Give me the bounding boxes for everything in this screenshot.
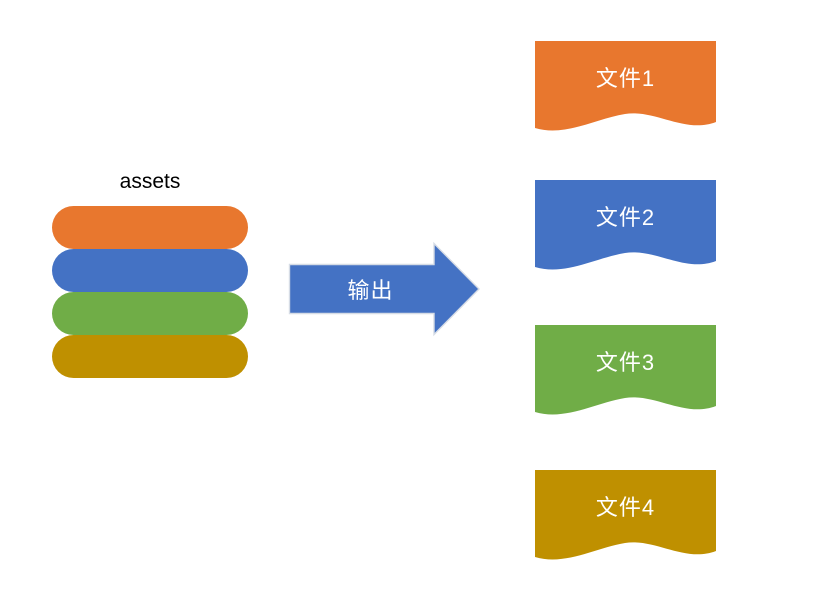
document-card-4[interactable]: 文件4 <box>535 470 716 566</box>
assets-group: assets <box>52 168 248 380</box>
document-card-3[interactable]: 文件3 <box>535 325 716 421</box>
asset-bar-gold[interactable] <box>52 335 248 378</box>
document-shape-icon <box>535 470 716 566</box>
document-shape-icon <box>535 325 716 421</box>
output-arrow[interactable]: 输出 <box>288 239 482 339</box>
diagram-canvas: assets 输出 文件1 文件2 文件3 文件4 <box>0 0 829 611</box>
document-card-2[interactable]: 文件2 <box>535 180 716 276</box>
asset-bar-orange[interactable] <box>52 206 248 249</box>
asset-bar-blue[interactable] <box>52 249 248 292</box>
document-card-1[interactable]: 文件1 <box>535 41 716 137</box>
assets-label: assets <box>52 168 248 196</box>
right-arrow-icon <box>288 239 482 339</box>
document-shape-icon <box>535 41 716 137</box>
asset-bar-green[interactable] <box>52 292 248 335</box>
document-shape-icon <box>535 180 716 276</box>
